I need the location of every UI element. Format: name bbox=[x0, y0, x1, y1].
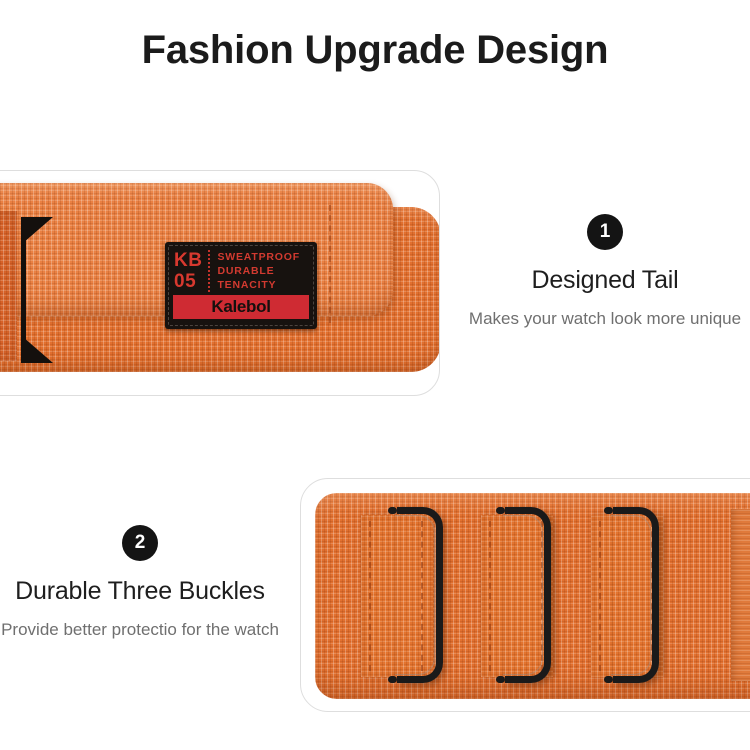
feature-heading-2: Durable Three Buckles bbox=[0, 577, 285, 606]
label-feature-2: DURABLE bbox=[217, 264, 299, 278]
product-feature-page: Fashion Upgrade Design KB 05 SWEATPROOF … bbox=[0, 0, 750, 750]
label-product-code: KB 05 bbox=[174, 250, 210, 292]
label-feature-list: SWEATPROOF DURABLE TENACITY bbox=[210, 250, 299, 292]
brand-label: KB 05 SWEATPROOF DURABLE TENACITY Kalebo… bbox=[165, 242, 317, 329]
feature-callout-1: 1 Designed Tail Makes your watch look mo… bbox=[460, 214, 750, 331]
strap-keeper-block bbox=[0, 211, 17, 361]
buckle-2-cap-top bbox=[496, 507, 505, 514]
keeper-stitch-left-3 bbox=[599, 521, 601, 671]
feature-body-1: Makes your watch look more unique bbox=[460, 306, 750, 331]
strap-fold-edge bbox=[731, 509, 750, 681]
buckle-3-cap-top bbox=[604, 507, 613, 514]
buckle-2 bbox=[505, 507, 551, 683]
buckle-1-cap-bottom bbox=[388, 676, 397, 683]
feature-heading-1: Designed Tail bbox=[460, 266, 750, 295]
buckle-1 bbox=[397, 507, 443, 683]
strap-stitch-line bbox=[329, 205, 331, 323]
photo-card-three-buckles bbox=[300, 478, 750, 712]
label-brand-name: Kalebol bbox=[211, 297, 270, 317]
buckle-2-cap-bottom bbox=[496, 676, 505, 683]
keeper-stitch-left-1 bbox=[369, 521, 371, 671]
buckle-3-cap-bottom bbox=[604, 676, 613, 683]
label-brand-bar: Kalebol bbox=[173, 295, 309, 319]
buckle-3 bbox=[613, 507, 659, 683]
page-title: Fashion Upgrade Design bbox=[0, 28, 750, 73]
feature-callout-2: 2 Durable Three Buckles Provide better p… bbox=[0, 525, 285, 642]
buckle-1-cap-top bbox=[388, 507, 397, 514]
keeper-stitch-left-2 bbox=[489, 521, 491, 671]
label-code-line-2: 05 bbox=[174, 271, 202, 292]
feature-badge-1: 1 bbox=[587, 214, 623, 250]
label-code-line-1: KB bbox=[174, 250, 202, 271]
label-feature-3: TENACITY bbox=[217, 278, 299, 292]
label-top-row: KB 05 SWEATPROOF DURABLE TENACITY bbox=[174, 250, 311, 298]
feature-body-2: Provide better protectio for the watch bbox=[0, 617, 285, 642]
label-feature-1: SWEATPROOF bbox=[217, 250, 299, 264]
feature-badge-2: 2 bbox=[122, 525, 158, 561]
